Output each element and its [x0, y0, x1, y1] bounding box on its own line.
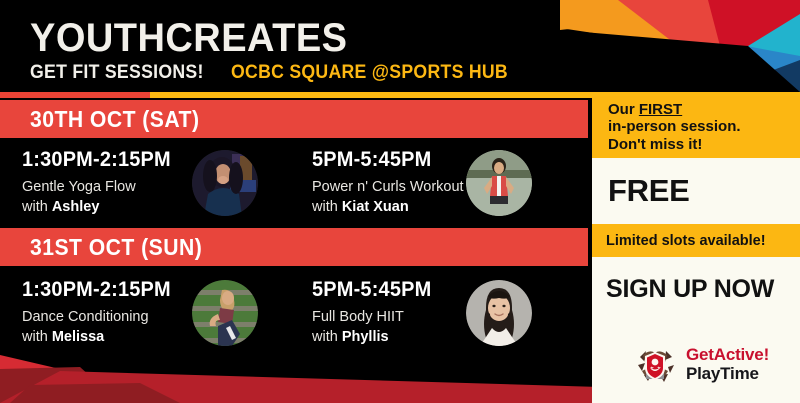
- session-instructor: Ashley: [52, 199, 100, 215]
- brand-getactive-text: GetActive!: [686, 346, 769, 363]
- session-text: 1:30PM-2:15PM Gentle Yoga Flow with Ashl…: [22, 148, 179, 215]
- brand-lockup: GetActive! PlayTime: [632, 341, 800, 387]
- price-label: FREE: [608, 173, 689, 209]
- session-instructor-line: with Kiat Xuan: [312, 199, 464, 215]
- with-prefix: with: [312, 199, 342, 215]
- session-instructor-line: with Ashley: [22, 199, 179, 215]
- instructor-avatar-phyllis: [466, 280, 532, 346]
- date-banner-day-1: 30TH OCT (SAT): [0, 100, 588, 138]
- session-row-day-2: 1:30PM-2:15PM Dance Conditioning with Me…: [0, 272, 588, 354]
- signup-panel[interactable]: SIGN UP NOW: [592, 257, 800, 403]
- session-instructor-line: with Phyllis: [312, 329, 438, 345]
- session-time: 5PM-5:45PM: [312, 148, 456, 172]
- session-text: 1:30PM-2:15PM Dance Conditioning with Me…: [22, 278, 179, 345]
- poster-subtitle-row: GET FIT SESSIONS! OCBC SQUARE @SPORTS HU…: [30, 62, 528, 84]
- session-time: 1:30PM-2:15PM: [22, 148, 171, 172]
- session-text: 5PM-5:45PM Full Body HIIT with Phyllis: [312, 278, 438, 345]
- with-prefix: with: [312, 329, 342, 345]
- slots-note: Limited slots available!: [606, 233, 766, 249]
- date-banner-day-2-label: 31ST OCT (SUN): [30, 234, 202, 261]
- session-instructor: Phyllis: [342, 329, 389, 345]
- getactive-lion-shield-emblem: [632, 341, 678, 387]
- highlight-line1-prefix: Our: [608, 101, 639, 118]
- with-prefix: with: [22, 199, 52, 215]
- session-text: 5PM-5:45PM Power n' Curls Workout with K…: [312, 148, 464, 215]
- session-card[interactable]: 1:30PM-2:15PM Dance Conditioning with Me…: [0, 272, 294, 354]
- poster-title: YOUTHCREATES: [30, 18, 347, 58]
- poster-header: YOUTHCREATES GET FIT SESSIONS! OCBC SQUA…: [0, 0, 588, 96]
- instructor-avatar-melissa: [192, 280, 258, 346]
- price-panel: FREE: [592, 158, 800, 224]
- session-card[interactable]: 1:30PM-2:15PM Gentle Yoga Flow with Ashl…: [0, 142, 294, 224]
- session-row-day-1: 1:30PM-2:15PM Gentle Yoga Flow with Ashl…: [0, 142, 588, 224]
- date-banner-day-2: 31ST OCT (SUN): [0, 228, 588, 266]
- instructor-avatar-ashley: [192, 150, 258, 216]
- session-instructor: Kiat Xuan: [342, 199, 409, 215]
- session-time: 1:30PM-2:15PM: [22, 278, 171, 302]
- session-activity: Full Body HIIT: [312, 309, 438, 325]
- with-prefix: with: [22, 329, 52, 345]
- highlight-line2: in-person session.: [608, 118, 741, 135]
- session-activity: Gentle Yoga Flow: [22, 179, 179, 195]
- date-banner-day-1-label: 30TH OCT (SAT): [30, 106, 199, 133]
- info-sidebar: Our FIRST in-person session. Don't miss …: [592, 96, 800, 403]
- brand-wordmark: GetActive! PlayTime: [686, 346, 769, 382]
- highlight-line3: Don't miss it!: [608, 136, 702, 153]
- instructor-avatar-kiat-xuan: [466, 150, 532, 216]
- signup-cta-label[interactable]: SIGN UP NOW: [606, 275, 800, 304]
- slots-panel: Limited slots available!: [592, 224, 800, 257]
- highlight-first-emphasis: FIRST: [639, 101, 682, 118]
- session-card[interactable]: 5PM-5:45PM Power n' Curls Workout with K…: [294, 142, 588, 224]
- session-card[interactable]: 5PM-5:45PM Full Body HIIT with Phyllis: [294, 272, 588, 354]
- brand-playtime-text: PlayTime: [686, 365, 769, 382]
- youthcreates-event-poster: YOUTHCREATES GET FIT SESSIONS! OCBC SQUA…: [0, 0, 800, 403]
- session-instructor: Melissa: [52, 329, 104, 345]
- session-activity: Power n' Curls Workout: [312, 179, 464, 195]
- poster-subtitle-tagline: GET FIT SESSIONS!: [30, 62, 204, 84]
- first-session-highlight-panel: Our FIRST in-person session. Don't miss …: [592, 96, 800, 158]
- session-time: 5PM-5:45PM: [312, 278, 431, 302]
- accent-strip-red: [0, 92, 150, 98]
- session-activity: Dance Conditioning: [22, 309, 179, 325]
- session-instructor-line: with Melissa: [22, 329, 179, 345]
- poster-subtitle-venue: OCBC SQUARE @SPORTS HUB: [231, 62, 508, 84]
- highlight-text: Our FIRST in-person session. Don't miss …: [608, 101, 741, 154]
